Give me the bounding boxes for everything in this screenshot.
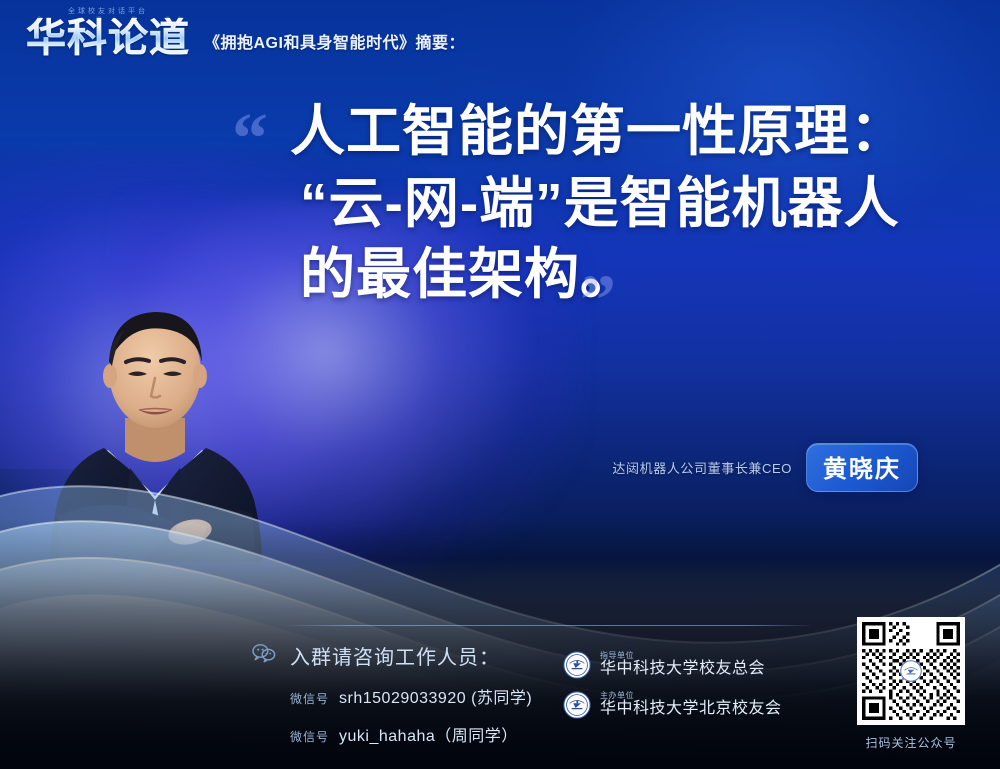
qr-section: 扫码关注公众号 <box>857 617 965 751</box>
organizer-row: 指导单位 华中科技大学校友总会 <box>563 651 782 679</box>
wechat-icon <box>252 643 276 668</box>
organizer-text: 指导单位 华中科技大学校友总会 <box>600 652 765 678</box>
wechat-row: 微信号 srh15029033920 (苏同学) <box>252 684 532 708</box>
poster-footer: 入群请咨询工作人员： 微信号 srh15029033920 (苏同学) 微信号 … <box>0 619 1000 769</box>
logo-text: 华科论道 <box>26 18 190 58</box>
quote-block: “ 人工智能的第一性原理： “云-网-端”是智能机器人 的最佳架构。 ” <box>232 96 952 311</box>
qr-center-logo <box>900 660 922 682</box>
university-seal-icon <box>563 651 591 679</box>
speaker-attribution: 达闼机器人公司董事长兼CEO 黄晓庆 <box>612 443 918 492</box>
contact-section: 入群请咨询工作人员： 微信号 srh15029033920 (苏同学) 微信号 … <box>252 641 532 746</box>
logo-tagline: 全球校友对话平台 <box>68 6 148 16</box>
wechat-id[interactable]: srh15029033920 (苏同学) <box>339 684 532 708</box>
poster-root: 全球校友对话平台 华科论道 《拥抱AGI和具身智能时代》摘要： “ 人工智能的第… <box>0 0 1000 769</box>
header-subtitle: 《拥抱AGI和具身智能时代》摘要： <box>204 29 465 58</box>
contact-heading: 入群请咨询工作人员： <box>252 641 532 670</box>
wechat-label: 微信号 <box>290 690 329 707</box>
wechat-label: 微信号 <box>290 728 329 745</box>
organizer-row: 主办单位 华中科技大学北京校友会 <box>563 691 782 719</box>
quote-close-mark: ” <box>580 264 616 336</box>
wechat-id[interactable]: yuki_hahaha（周同学） <box>339 722 518 746</box>
footer-divider <box>288 625 810 626</box>
wechat-row: 微信号 yuki_hahaha（周同学） <box>252 722 532 746</box>
qr-caption: 扫码关注公众号 <box>857 734 965 751</box>
organizer-section: 指导单位 华中科技大学校友总会 主 <box>563 651 782 731</box>
brand-logo: 全球校友对话平台 华科论道 <box>26 18 190 58</box>
quote-line-1: 人工智能的第一性原理： <box>290 96 952 168</box>
organizer-name: 华中科技大学北京校友会 <box>600 701 782 718</box>
quote-line-2: “云-网-端”是智能机器人 <box>290 168 952 240</box>
university-seal-icon <box>563 691 591 719</box>
speaker-name-badge: 黄晓庆 <box>806 443 918 492</box>
organizer-name: 华中科技大学校友总会 <box>600 661 765 678</box>
qr-code-icon[interactable] <box>857 617 965 725</box>
speaker-title: 达闼机器人公司董事长兼CEO <box>612 458 792 477</box>
organizer-text: 主办单位 华中科技大学北京校友会 <box>600 692 782 718</box>
poster-header: 全球校友对话平台 华科论道 《拥抱AGI和具身智能时代》摘要： <box>26 18 465 58</box>
quote-line-3: 的最佳架构。 <box>290 239 952 311</box>
contact-title: 入群请咨询工作人员： <box>290 641 500 670</box>
